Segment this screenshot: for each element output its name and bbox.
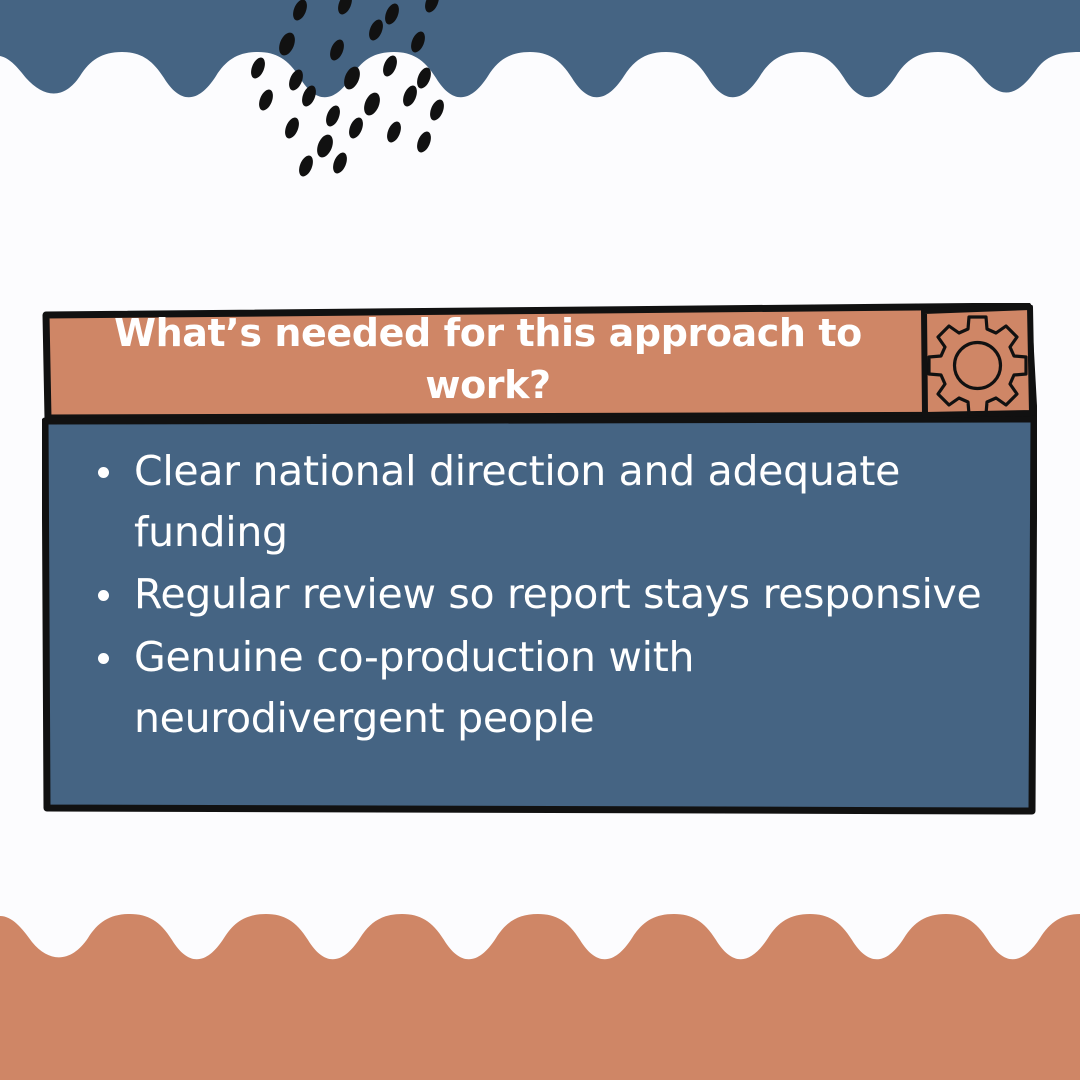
confetti-dots (0, 0, 1080, 260)
gear-icon-box (924, 307, 1032, 415)
card-header: What’s needed for this approach to work? (42, 303, 1037, 419)
bullet-list: Clear national direction and adequate fu… (76, 441, 1003, 748)
list-item: Clear national direction and adequate fu… (76, 441, 1003, 562)
bullet-dot-icon (98, 653, 109, 664)
list-item-label: Clear national direction and adequate fu… (134, 447, 900, 556)
bottom-wave-band (0, 880, 1080, 1080)
top-wave-shape (0, 0, 1080, 97)
list-item-label: Regular review so report stays responsiv… (134, 570, 981, 618)
top-wave-band (0, 0, 1080, 210)
list-item: Regular review so report stays responsiv… (76, 564, 1003, 625)
bottom-wave-shape (0, 914, 1080, 1080)
card-body: Clear national direction and adequate fu… (42, 419, 1037, 815)
slide-canvas: What’s needed for this approach to work? (0, 0, 1080, 1080)
bullet-dot-icon (98, 590, 109, 601)
gear-icon (920, 305, 1035, 418)
confetti-group (248, 0, 446, 178)
content-card: What’s needed for this approach to work? (42, 303, 1037, 815)
page-title: What’s needed for this approach to work? (42, 308, 920, 411)
list-item: Genuine co-production with neurodivergen… (76, 627, 1003, 748)
bullet-dot-icon (98, 467, 109, 478)
list-item-label: Genuine co-production with neurodivergen… (134, 633, 694, 742)
